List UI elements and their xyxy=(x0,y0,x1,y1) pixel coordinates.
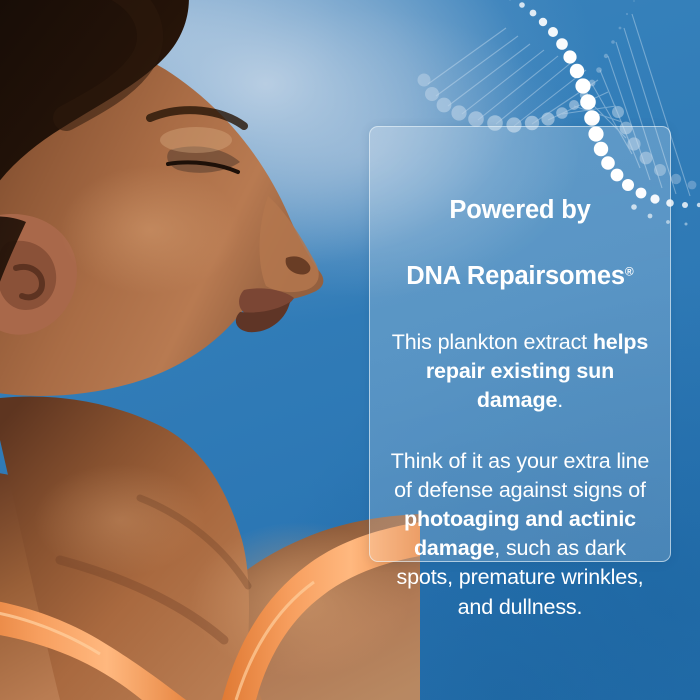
card-paragraph-2: Think of it as your extra line of defens… xyxy=(389,447,651,622)
card-title: Powered by DNA Repairsomes® xyxy=(406,161,633,294)
card-title-line-2: DNA Repairsomes xyxy=(406,262,625,290)
registered-trademark-icon: ® xyxy=(625,265,634,279)
card-title-line-1: Powered by xyxy=(449,196,590,224)
info-card: Powered by DNA Repairsomes® This plankto… xyxy=(369,126,671,562)
promo-graphic: Powered by DNA Repairsomes® This plankto… xyxy=(0,0,700,700)
card-paragraph-1: This plankton extract helps repair exist… xyxy=(389,328,651,415)
